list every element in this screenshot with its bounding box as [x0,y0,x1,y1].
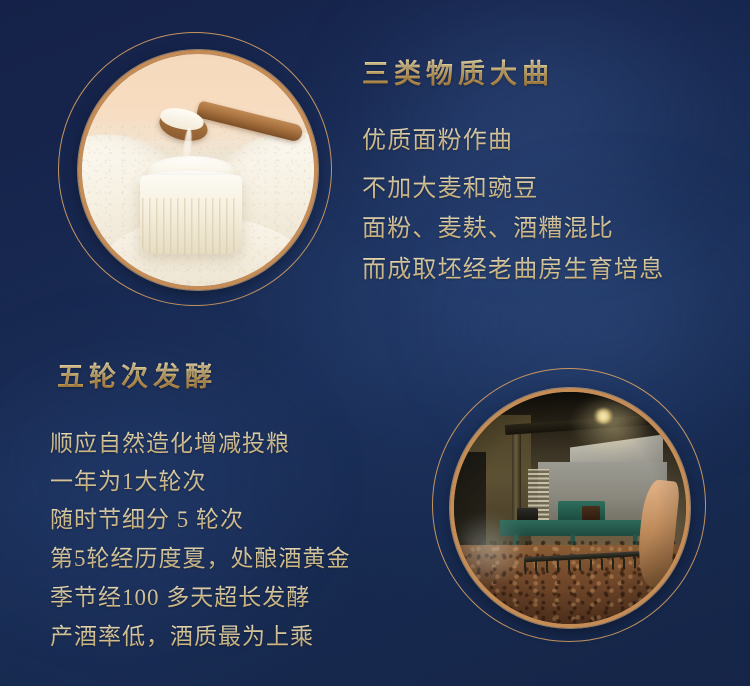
section-1-line-4: 而成取坯经老曲房生育培息 [362,249,664,284]
workshop-photo-frame [450,388,690,628]
section-2-line-3: 随时节细分 5 轮次 [50,500,244,534]
section-1-line-1: 优质面粉作曲 [362,120,513,155]
section-2-heading: 五轮次发酵 [57,355,217,394]
section-1-line-2: 不加大麦和豌豆 [362,168,538,203]
ramekin-ridges [142,198,239,254]
section-2-line-4: 第5轮经历度夏，处酿酒黄金 [50,539,351,573]
flour-photo [82,54,314,286]
section-2-line-6: 产酒率低，酒质最为上乘 [50,617,314,651]
section-1-heading: 三类物质大曲 [362,52,554,91]
section-1-line-3: 面粉、麦麸、酒糟混比 [362,208,614,243]
section-2-line-2: 一年为1大轮次 [50,462,207,496]
flour-photo-frame [78,50,318,290]
section-2-line-5: 季节经100 多天超长发酵 [50,578,310,612]
workshop-vignette [454,392,686,624]
workshop-photo [454,392,686,624]
promo-page: 三类物质大曲 优质面粉作曲 不加大麦和豌豆 面粉、麦麸、酒糟混比 而成取坯经老曲… [0,0,750,686]
section-2-line-1: 顺应自然造化增减投粮 [50,424,290,458]
